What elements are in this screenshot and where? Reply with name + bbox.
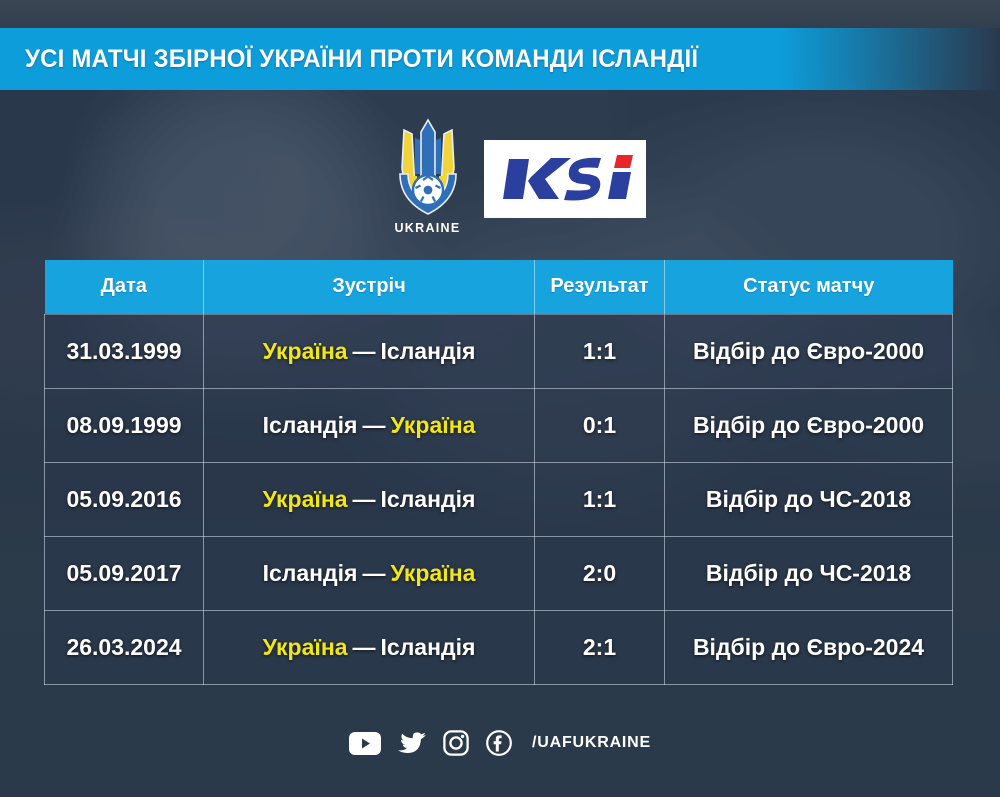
table-row: 31.03.1999Україна—Ісландія1:1Відбір до Є…	[45, 314, 953, 388]
team-away: Україна	[390, 412, 475, 438]
team-home: Ісландія	[263, 412, 358, 438]
instagram-icon[interactable]	[443, 730, 469, 756]
fixture-dash: —	[348, 338, 381, 364]
table-row: 26.03.2024Україна—Ісландія2:1Відбір до Є…	[45, 610, 953, 684]
column-header-result: Результат	[535, 260, 665, 314]
column-header-date: Дата	[45, 260, 204, 314]
team-away: Ісландія	[381, 634, 476, 660]
column-header-fixture: Зустріч	[204, 260, 535, 314]
fixture-dash: —	[357, 560, 390, 586]
table-row: 05.09.2016Україна—Ісландія1:1Відбір до Ч…	[45, 462, 953, 536]
cell-result: 2:0	[535, 536, 665, 610]
title-banner: УСІ МАТЧІ ЗБІРНОЇ УКРАЇНИ ПРОТИ КОМАНДИ …	[0, 28, 1000, 90]
matches-table: Дата Зустріч Результат Статус матчу 31.0…	[44, 260, 953, 685]
cell-fixture: Україна—Ісландія	[204, 610, 535, 684]
ukraine-logo-label: UKRAINE	[385, 221, 470, 235]
facebook-icon[interactable]	[486, 730, 512, 756]
trident-icon	[392, 118, 464, 218]
cell-result: 0:1	[535, 388, 665, 462]
cell-result: 1:1	[535, 314, 665, 388]
cell-result: 1:1	[535, 462, 665, 536]
logos-row: UKRAINE	[0, 108, 1000, 248]
team-away: Ісландія	[381, 486, 476, 512]
table-header-row: Дата Зустріч Результат Статус матчу	[45, 260, 953, 314]
team-away: Україна	[390, 560, 475, 586]
team-home: Україна	[263, 634, 348, 660]
youtube-icon[interactable]	[349, 732, 381, 755]
cell-date: 05.09.2017	[45, 536, 204, 610]
cell-status: Відбір до ЧС-2018	[665, 462, 953, 536]
team-home: Україна	[263, 486, 348, 512]
cell-fixture: Ісландія—Україна	[204, 388, 535, 462]
ksi-logo	[484, 140, 646, 218]
cell-status: Відбір до ЧС-2018	[665, 536, 953, 610]
team-away: Ісландія	[381, 338, 476, 364]
cell-date: 05.09.2016	[45, 462, 204, 536]
cell-status: Відбір до Євро-2024	[665, 610, 953, 684]
page-title: УСІ МАТЧІ ЗБІРНОЇ УКРАЇНИ ПРОТИ КОМАНДИ …	[0, 45, 698, 74]
cell-fixture: Україна—Ісландія	[204, 314, 535, 388]
cell-date: 31.03.1999	[45, 314, 204, 388]
ukraine-football-association-logo: UKRAINE	[385, 118, 470, 246]
cell-date: 08.09.1999	[45, 388, 204, 462]
team-home: Україна	[263, 338, 348, 364]
team-home: Ісландія	[263, 560, 358, 586]
cell-date: 26.03.2024	[45, 610, 204, 684]
ksi-wordmark-icon	[497, 153, 633, 205]
table-row: 05.09.2017Ісландія—Україна2:0Відбір до Ч…	[45, 536, 953, 610]
social-handle: /UAFUKRAINE	[532, 734, 651, 752]
cell-status: Відбір до Євро-2000	[665, 388, 953, 462]
fixture-dash: —	[357, 412, 390, 438]
top-strip	[0, 0, 1000, 28]
cell-fixture: Україна—Ісландія	[204, 462, 535, 536]
twitter-icon[interactable]	[398, 732, 426, 755]
table-body: 31.03.1999Україна—Ісландія1:1Відбір до Є…	[45, 314, 953, 684]
column-header-status: Статус матчу	[665, 260, 953, 314]
cell-fixture: Ісландія—Україна	[204, 536, 535, 610]
cell-result: 2:1	[535, 610, 665, 684]
fixture-dash: —	[348, 486, 381, 512]
footer-social-bar: /UAFUKRAINE	[0, 718, 1000, 768]
cell-status: Відбір до Євро-2000	[665, 314, 953, 388]
fixture-dash: —	[348, 634, 381, 660]
table-row: 08.09.1999Ісландія—Україна0:1Відбір до Є…	[45, 388, 953, 462]
